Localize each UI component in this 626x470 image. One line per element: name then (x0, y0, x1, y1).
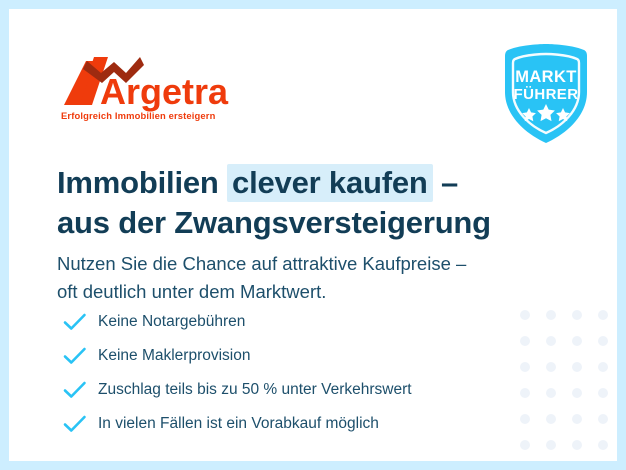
promo-card: Argetra Erfolgreich Immobilien ersteiger… (9, 9, 617, 461)
decorative-dot (546, 388, 556, 398)
headline-highlight: clever kaufen (227, 164, 433, 202)
badge-line1: MARKT (515, 68, 577, 86)
decorative-dot (598, 336, 608, 346)
decorative-dot (572, 440, 582, 450)
check-icon (63, 312, 89, 332)
argetra-logo: Argetra Erfolgreich Immobilien ersteiger… (56, 49, 256, 125)
decorative-dot (572, 414, 582, 424)
badge-line2: FÜHRER (514, 86, 579, 103)
logo-wordmark: Argetra (100, 71, 229, 112)
list-item: Keine Maklerprovision (63, 341, 503, 370)
headline-suffix: – (433, 165, 458, 200)
list-item-label: Keine Maklerprovision (98, 348, 251, 364)
list-item-label: Keine Notargebühren (98, 314, 245, 330)
decorative-dot (546, 336, 556, 346)
subheading-line-2: oft deutlich unter dem Marktwert. (57, 278, 537, 306)
decorative-dot (520, 336, 530, 346)
decorative-dot (598, 440, 608, 450)
decorative-dot (572, 336, 582, 346)
decorative-dot (546, 414, 556, 424)
list-item: In vielen Fällen ist ein Vorabkauf mögli… (63, 409, 503, 438)
list-item-label: In vielen Fällen ist ein Vorabkauf mögli… (98, 416, 379, 432)
decorative-dot (546, 362, 556, 372)
decorative-dot (520, 414, 530, 424)
logo-tagline: Erfolgreich Immobilien ersteigern (61, 110, 216, 121)
decorative-dot (572, 310, 582, 320)
decorative-dot (520, 310, 530, 320)
decorative-dot (520, 362, 530, 372)
decorative-dot (546, 440, 556, 450)
decorative-dot (572, 388, 582, 398)
list-item-label: Zuschlag teils bis zu 50 % unter Verkehr… (98, 382, 412, 398)
page-title: Immobilien clever kaufen – aus der Zwang… (57, 163, 527, 244)
check-icon (63, 346, 89, 366)
decorative-dot (598, 414, 608, 424)
subheading: Nutzen Sie die Chance auf attraktive Kau… (57, 250, 537, 306)
headline-line-1: Immobilien clever kaufen – (57, 163, 527, 203)
benefit-list: Keine Notargebühren Keine Maklerprovisio… (63, 307, 503, 443)
markt-fuehrer-badge: MARKT FÜHRER (498, 42, 594, 146)
list-item: Keine Notargebühren (63, 307, 503, 336)
check-icon (63, 380, 89, 400)
decorative-dot (572, 362, 582, 372)
decorative-dot (520, 440, 530, 450)
check-icon (63, 414, 89, 434)
decorative-dot (598, 362, 608, 372)
decorative-dot (520, 388, 530, 398)
decorative-dot (546, 310, 556, 320)
headline-prefix: Immobilien (57, 165, 227, 200)
decorative-dot (598, 310, 608, 320)
dot-grid-decoration (520, 310, 617, 461)
headline-line-2: aus der Zwangsversteigerung (57, 203, 527, 243)
list-item: Zuschlag teils bis zu 50 % unter Verkehr… (63, 375, 503, 404)
subheading-line-1: Nutzen Sie die Chance auf attraktive Kau… (57, 250, 537, 278)
decorative-dot (598, 388, 608, 398)
